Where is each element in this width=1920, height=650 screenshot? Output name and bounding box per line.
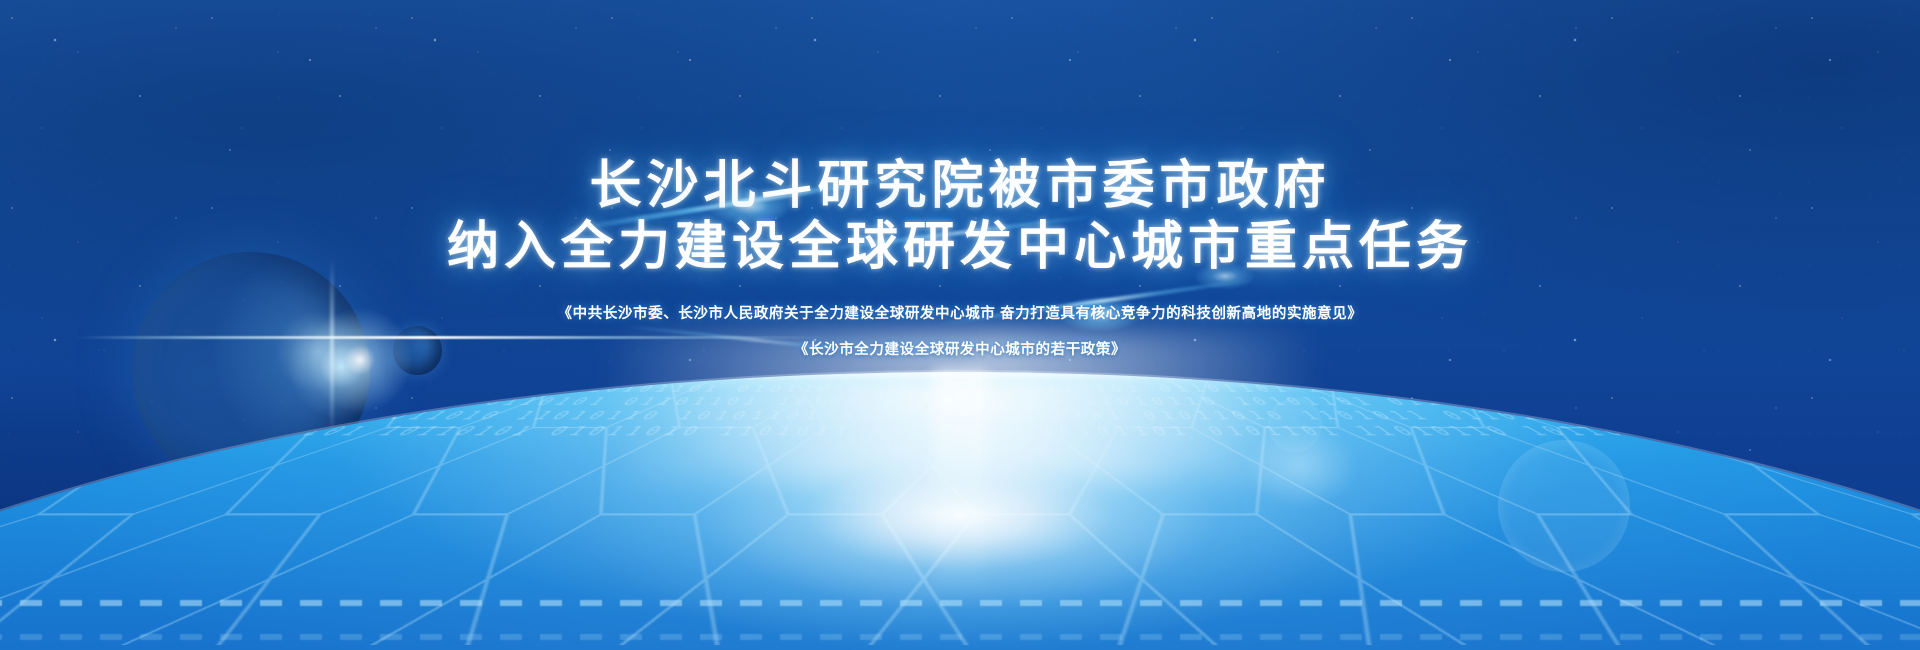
right-flare-orb-small [1268, 398, 1322, 452]
data-dash-line-secondary [0, 634, 1920, 640]
banner-title: 长沙北斗研究院被市委市政府 纳入全力建设全球研发中心城市重点任务 [0, 156, 1920, 279]
hexagon-grid-overlay [0, 372, 1920, 645]
banner-title-line-2: 纳入全力建设全球研发中心城市重点任务 [0, 217, 1920, 278]
banner-content: 长沙北斗研究院被市委市政府 纳入全力建设全球研发中心城市重点任务 《中共长沙市委… [0, 0, 1920, 362]
hero-banner: 01010110 10101101 0110101 10110101 01011… [0, 0, 1920, 650]
right-flare-glow [1222, 406, 1382, 526]
banner-subtitle-2: 《长沙市全力建设全球研发中心城市的若干政策》 [0, 339, 1920, 362]
banner-subtitles: 《中共长沙市委、长沙市人民政府关于全力建设全球研发中心城市 奋力打造具有核心竞争… [0, 303, 1920, 362]
banner-title-line-1: 长沙北斗研究院被市委市政府 [0, 156, 1920, 217]
banner-subtitle-1: 《中共长沙市委、长沙市人民政府关于全力建设全球研发中心城市 奋力打造具有核心竞争… [0, 303, 1920, 326]
right-flare-orb-large [1498, 440, 1630, 572]
earth-atmosphere-rim [0, 372, 1920, 392]
data-dash-line-primary [0, 600, 1920, 606]
horizon-beam-vertical [934, 370, 986, 600]
galaxy-cluster [0, 349, 542, 650]
earth-limb: 01010110 10101101 0110101 10110101 01011… [0, 372, 1920, 650]
binary-data-texture: 01010110 10101101 0110101 10110101 01011… [0, 372, 1920, 650]
